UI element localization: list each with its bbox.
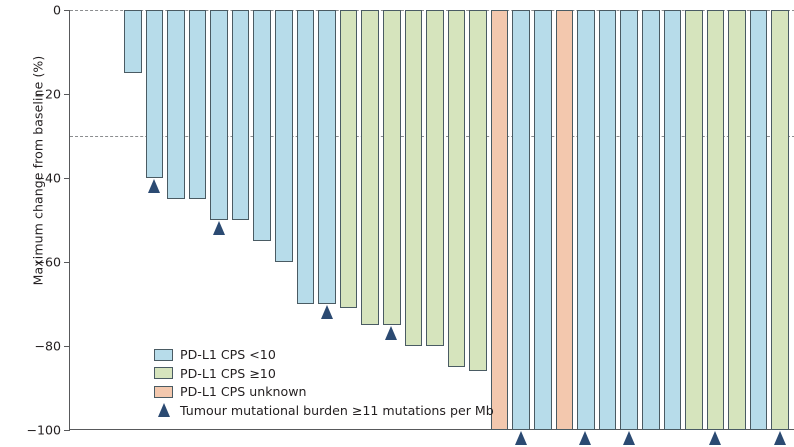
y-axis-tick-label: −60	[34, 255, 61, 270]
bar	[577, 10, 595, 430]
bar	[750, 10, 768, 430]
bar	[361, 10, 379, 325]
tmb-marker-icon	[213, 221, 225, 235]
legend-item-cps-ge10: PD-L1 CPS ≥10	[154, 365, 484, 383]
bar	[253, 10, 271, 241]
bar	[685, 10, 703, 430]
legend-label: PD-L1 CPS <10	[180, 347, 276, 362]
tmb-marker-icon	[709, 431, 721, 445]
bar	[556, 10, 574, 430]
legend-label: Tumour mutational burden ≥11 mutations p…	[180, 403, 494, 418]
bar	[297, 10, 315, 304]
bar	[426, 10, 444, 346]
bar	[448, 10, 466, 367]
bar	[771, 10, 789, 430]
waterfall-plot-figure: Maximum change from baseline (%) 0−20−40…	[0, 0, 794, 447]
bar	[642, 10, 660, 430]
tmb-marker-icon	[774, 431, 786, 445]
legend-swatch-salmon-icon	[154, 386, 173, 398]
bar	[210, 10, 228, 220]
bar	[318, 10, 336, 304]
bar	[275, 10, 293, 262]
bar	[124, 10, 142, 73]
bar	[534, 10, 552, 430]
bar	[146, 10, 164, 178]
plot-area: 0−20−40−60−80−100 PD-L1 CPS <10 PD-L1 CP…	[69, 10, 794, 430]
bar	[512, 10, 530, 430]
tmb-marker-icon	[515, 431, 527, 445]
legend-item-cps-unknown: PD-L1 CPS unknown	[154, 383, 484, 401]
bar	[232, 10, 250, 220]
legend: PD-L1 CPS <10 PD-L1 CPS ≥10 PD-L1 CPS un…	[154, 346, 484, 420]
legend-label: PD-L1 CPS unknown	[180, 384, 306, 399]
bar	[405, 10, 423, 346]
y-axis-tick-label: −40	[34, 171, 61, 186]
tmb-marker-icon	[385, 326, 397, 340]
y-axis-tick-label: −100	[26, 423, 61, 438]
legend-swatch-green-icon	[154, 367, 173, 379]
bar	[620, 10, 638, 430]
legend-label: PD-L1 CPS ≥10	[180, 366, 276, 381]
bar	[664, 10, 682, 430]
legend-item-tmb: Tumour mutational burden ≥11 mutations p…	[154, 402, 484, 420]
bar	[469, 10, 487, 371]
tmb-marker-icon	[579, 431, 591, 445]
bar	[189, 10, 207, 199]
tmb-marker-icon	[321, 305, 333, 319]
y-axis-tick-label: −20	[34, 87, 61, 102]
bar	[728, 10, 746, 430]
legend-item-cps-lt10: PD-L1 CPS <10	[154, 346, 484, 364]
bar	[340, 10, 358, 308]
bar	[491, 10, 509, 430]
y-axis-tick-label: −80	[34, 339, 61, 354]
bar	[599, 10, 617, 430]
tmb-marker-icon	[623, 431, 635, 445]
bar	[707, 10, 725, 430]
bar	[167, 10, 185, 199]
tmb-marker-icon	[148, 179, 160, 193]
y-axis-tick	[64, 430, 70, 431]
bar	[383, 10, 401, 325]
legend-swatch-blue-icon	[154, 349, 173, 361]
legend-triangle-icon	[154, 403, 173, 417]
y-axis-tick-label: 0	[53, 3, 61, 18]
